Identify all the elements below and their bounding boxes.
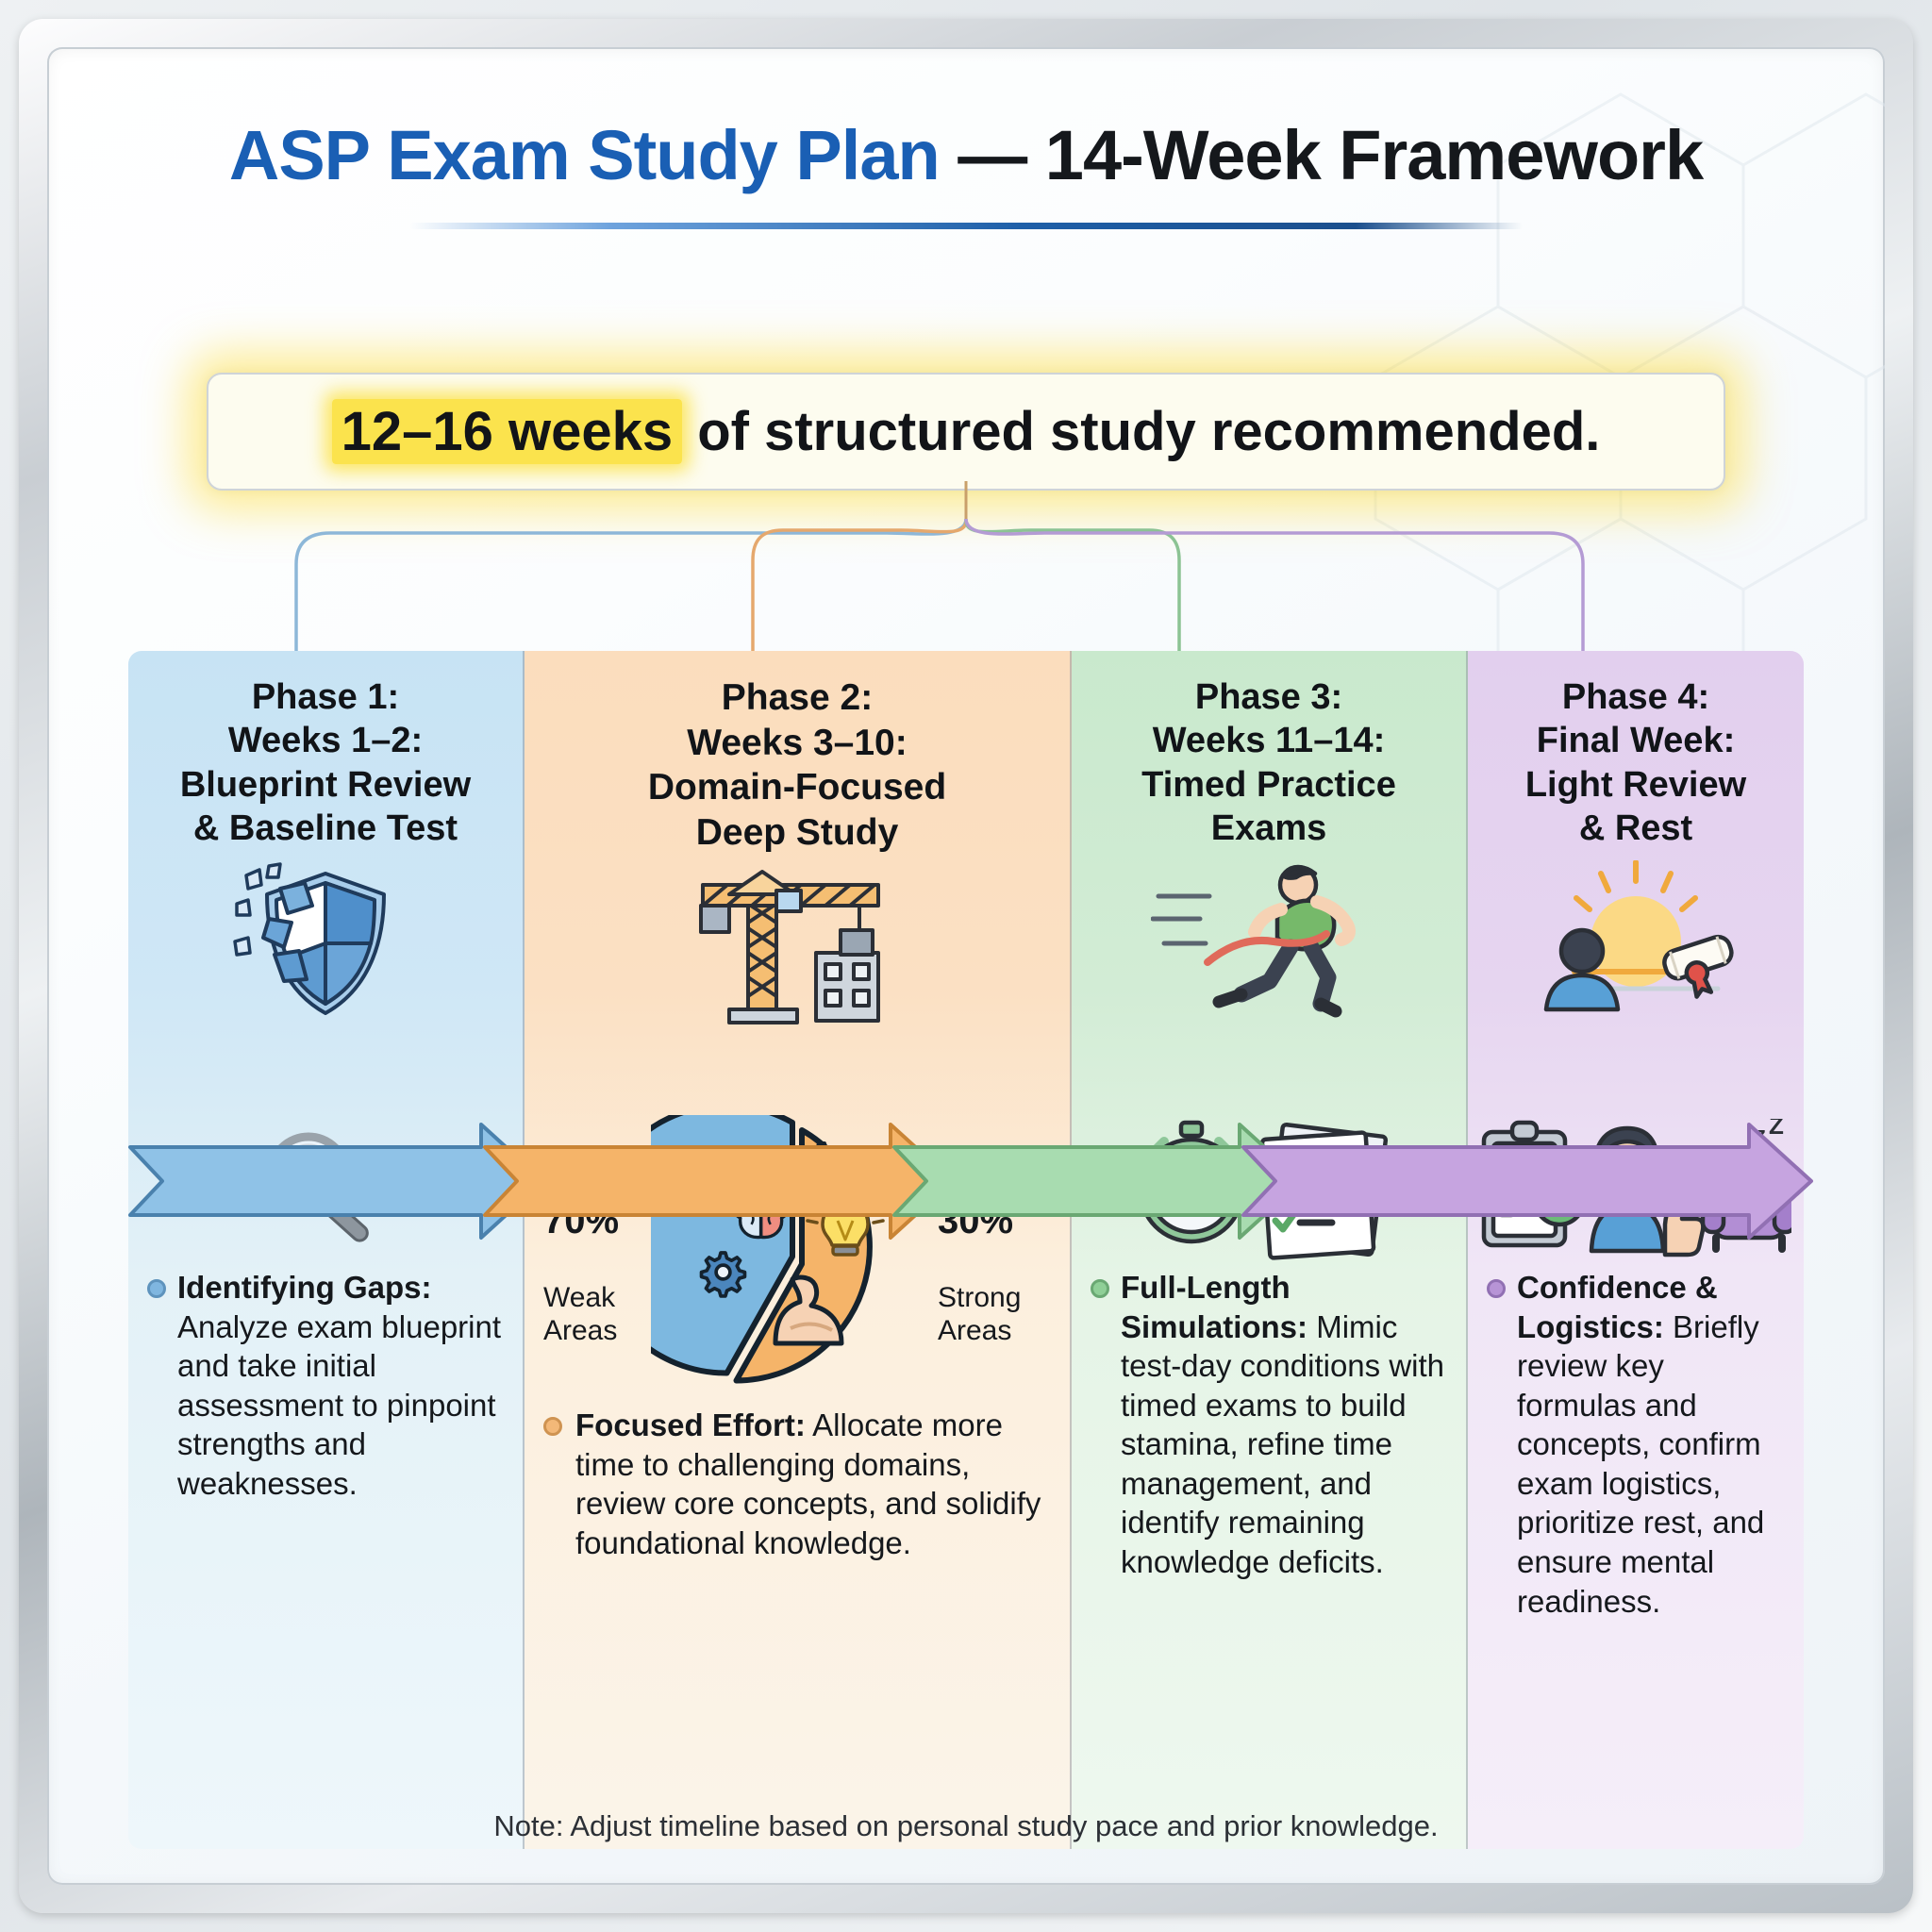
infographic-poster: ASP Exam Study Plan — 14-Week Framework … xyxy=(0,0,1932,1932)
phase-columns: Phase 1: Weeks 1–2: Blueprint Review & B… xyxy=(128,651,1804,1849)
phase-3-bullet-body: Mimic test-day conditions with timed exa… xyxy=(1121,1309,1444,1579)
bullet-dot-icon xyxy=(1091,1279,1109,1298)
phase-column-3[interactable]: Phase 3: Weeks 11–14: Timed Practice Exa… xyxy=(1072,651,1468,1849)
phase-2-heading: Phase 2: Weeks 3–10: Domain-Focused Deep… xyxy=(639,675,956,855)
pie-value-strong: 30% xyxy=(938,1199,1051,1242)
connector-lines xyxy=(47,481,1885,670)
title-primary: ASP Exam Study Plan xyxy=(229,116,940,194)
bullet-dot-icon xyxy=(147,1279,166,1298)
phase-column-4[interactable]: Phase 4: Final Week: Light Review & Rest xyxy=(1468,651,1804,1849)
phase-3-lower: Full-Length Simulations: Mimic test-day … xyxy=(1072,1113,1466,1849)
sunrise-graduate-icon xyxy=(1518,858,1754,1027)
page-title: ASP Exam Study Plan — 14-Week Framework xyxy=(47,115,1885,195)
running-athlete-icon xyxy=(1151,858,1387,1027)
broken-shield-icon xyxy=(231,858,420,1027)
phase-4-bullet-body: Briefly review key formulas and concepts… xyxy=(1517,1309,1764,1619)
stopwatch-and-checklist-icon xyxy=(1132,1119,1406,1260)
phase-2-bullet-title: Focused Effort: xyxy=(575,1407,806,1442)
pie-category-weak: Weak Areas xyxy=(543,1282,617,1346)
phase-4-heading: Phase 4: Final Week: Light Review & Rest xyxy=(1516,675,1756,850)
footer-note: Note: Adjust timeline based on personal … xyxy=(47,1809,1885,1843)
phase-1-bullet-body: Analyze exam blueprint and take initial … xyxy=(177,1309,501,1501)
phase-column-2[interactable]: Phase 2: Weeks 3–10: Domain-Focused Deep… xyxy=(525,651,1072,1849)
phase-1-lower: Identifying Gaps: Analyze exam blueprint… xyxy=(128,1113,523,1849)
phase-1-bullet: Identifying Gaps: Analyze exam blueprint… xyxy=(145,1268,506,1503)
callout-rest: of structured study recommended. xyxy=(682,401,1600,462)
phase-column-1[interactable]: Phase 1: Weeks 1–2: Blueprint Review & B… xyxy=(128,651,525,1849)
weak-strong-pie-chart: 70% Weak Areas xyxy=(541,1115,1053,1398)
pie-category-strong: Strong Areas xyxy=(938,1282,1021,1346)
construction-crane-icon xyxy=(675,862,920,1032)
pie-slice-label-strong: 30% Strong Areas xyxy=(938,1166,1051,1347)
pie-chart-icon xyxy=(651,1115,934,1398)
zzz-label: z xyxy=(1756,1123,1766,1146)
pie-value-weak: 70% xyxy=(543,1199,647,1242)
phase-4-bullet: Confidence & Logistics: Briefly review k… xyxy=(1485,1268,1787,1621)
zzz-label-2: Z xyxy=(1769,1119,1784,1140)
phase-3-bullet-title: Full-Length Simulations: xyxy=(1121,1270,1307,1344)
phase-1-bullet-title: Identifying Gaps: xyxy=(177,1270,432,1305)
bullet-dot-icon xyxy=(543,1417,562,1436)
title-divider xyxy=(409,223,1523,229)
phase-1-heading: Phase 1: Weeks 1–2: Blueprint Review & B… xyxy=(171,675,480,850)
phase-2-lower: 70% Weak Areas xyxy=(525,1113,1070,1849)
clipboard-thumbsup-armchair-icon: z Z xyxy=(1480,1119,1791,1260)
phase-4-lower: z Z Confidence & Logistics: Briefly revi… xyxy=(1468,1113,1804,1849)
magnifying-glass-icon xyxy=(250,1119,401,1260)
phase-2-bullet: Focused Effort: Allocate more time to ch… xyxy=(541,1406,1053,1562)
callout-highlight: 12–16 weeks xyxy=(332,399,683,464)
poster-canvas: ASP Exam Study Plan — 14-Week Framework … xyxy=(47,47,1885,1885)
pie-slice-label-weak: 70% Weak Areas xyxy=(543,1166,647,1347)
bullet-dot-icon xyxy=(1487,1279,1506,1298)
recommendation-callout: 12–16 weeks of structured study recommen… xyxy=(207,373,1725,491)
phase-3-heading: Phase 3: Weeks 11–14: Timed Practice Exa… xyxy=(1132,675,1406,850)
title-secondary: — 14-Week Framework xyxy=(940,116,1703,194)
phase-3-bullet: Full-Length Simulations: Mimic test-day … xyxy=(1089,1268,1449,1582)
